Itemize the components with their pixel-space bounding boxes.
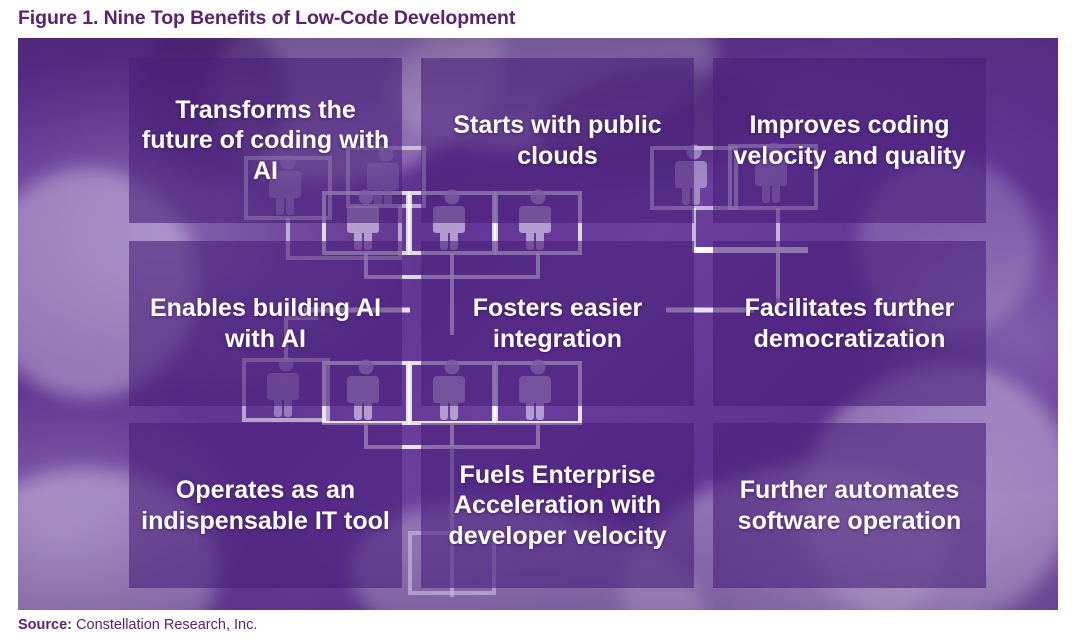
- benefit-label: Transforms the future of coding with AI: [141, 95, 390, 186]
- benefit-label: Fuels Enterprise Acceleration with devel…: [433, 460, 682, 551]
- page-title: Figure 1. Nine Top Benefits of Low-Code …: [18, 4, 1058, 32]
- benefit-label: Fosters easier integration: [433, 293, 682, 354]
- source-value: Constellation Research, Inc.: [72, 617, 257, 633]
- benefit-cell-improves-coding-velocity-and-quality: Improves coding velocity and quality: [713, 58, 986, 223]
- benefit-label: Starts with public clouds: [433, 110, 682, 171]
- figure-image: Transforms the future of coding with AI …: [18, 38, 1058, 610]
- benefit-cell-starts-with-public-clouds: Starts with public clouds: [421, 58, 694, 223]
- source-label: Source:: [18, 617, 72, 633]
- benefit-label: Further automates software operation: [725, 475, 974, 536]
- benefit-cell-facilitates-further-democratization: Facilitates further democratization: [713, 241, 986, 406]
- benefit-label: Operates as an indispensable IT tool: [141, 475, 390, 536]
- benefit-label: Facilitates further democratization: [725, 293, 974, 354]
- benefit-grid: Transforms the future of coding with AI …: [18, 38, 1058, 610]
- benefit-cell-further-automates-software-operation: Further automates software operation: [713, 423, 986, 588]
- benefit-cell-fosters-easier-integration: Fosters easier integration: [421, 241, 694, 406]
- benefit-cell-fuels-enterprise-acceleration-with-developer-velocity: Fuels Enterprise Acceleration with devel…: [421, 423, 694, 588]
- benefit-cell-transforms-future-of-coding-with-ai: Transforms the future of coding with AI: [129, 58, 402, 223]
- source-caption: Source: Constellation Research, Inc.: [18, 615, 257, 635]
- benefit-label: Improves coding velocity and quality: [725, 110, 974, 171]
- benefit-label: Enables building AI with AI: [141, 293, 390, 354]
- benefit-cell-operates-as-an-indispensable-it-tool: Operates as an indispensable IT tool: [129, 423, 402, 588]
- benefit-cell-enables-building-ai-with-ai: Enables building AI with AI: [129, 241, 402, 406]
